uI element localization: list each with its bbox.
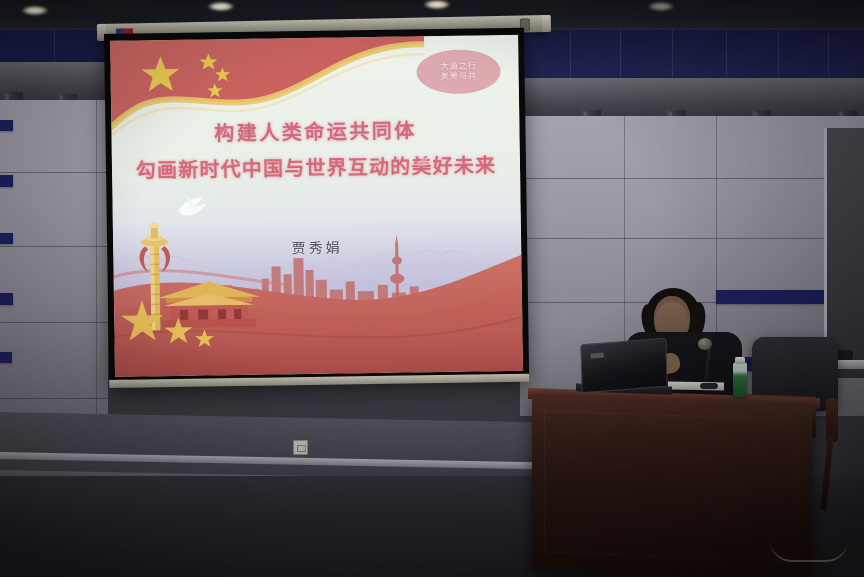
ceiling-light — [648, 2, 674, 11]
wall-accent-block — [0, 293, 13, 305]
wall-left — [0, 100, 108, 430]
blue-wall-band-right — [520, 30, 864, 82]
peace-dove-icon — [414, 154, 434, 170]
five-stars-icon — [120, 293, 241, 355]
roller-cap — [542, 15, 551, 32]
wall-accent-block — [0, 120, 13, 131]
floor-cable — [770, 540, 848, 562]
slide-title-line-2: 勾画新时代中国与世界互动的美好未来 — [112, 149, 520, 184]
ceiling-duct-right — [520, 78, 864, 116]
projection-screen: 大道之行 美美与共 构建人类命运共同体 勾画新时代中国与世界互动的美好未来 贾秀… — [110, 35, 523, 377]
badge-line-2: 美美与共 — [440, 71, 477, 81]
peace-dove-icon — [172, 191, 212, 222]
slide-title-line-1: 构建人类命运共同体 — [111, 113, 519, 148]
ceiling-light — [424, 0, 450, 9]
wall-accent-block — [0, 233, 13, 244]
water-bottle-cap — [735, 357, 745, 364]
microphone-base — [700, 383, 718, 389]
podium — [532, 394, 812, 577]
wall-accent-block — [0, 352, 12, 363]
laptop-screen — [580, 338, 667, 394]
laptop-logo — [591, 353, 604, 359]
presentation-slide: 大道之行 美美与共 构建人类命运共同体 勾画新时代中国与世界互动的美好未来 贾秀… — [110, 35, 523, 377]
microphone-head — [698, 338, 712, 350]
ceiling-light — [208, 2, 234, 11]
water-bottle — [733, 362, 747, 397]
projection-screen-frame: 大道之行 美美与共 构建人类命运共同体 勾画新时代中国与世界互动的美好未来 贾秀… — [104, 28, 529, 386]
lecture-hall-scene: 大道之行 美美与共 构建人类命运共同体 勾画新时代中国与世界互动的美好未来 贾秀… — [0, 0, 864, 577]
wall-accent-block — [0, 175, 13, 187]
ceiling-light — [22, 6, 48, 15]
alcove-object — [836, 350, 853, 360]
power-outlet — [293, 440, 308, 455]
slide-title: 构建人类命运共同体 勾画新时代中国与世界互动的美好未来 — [111, 113, 520, 184]
podium-front-panel — [544, 410, 798, 561]
